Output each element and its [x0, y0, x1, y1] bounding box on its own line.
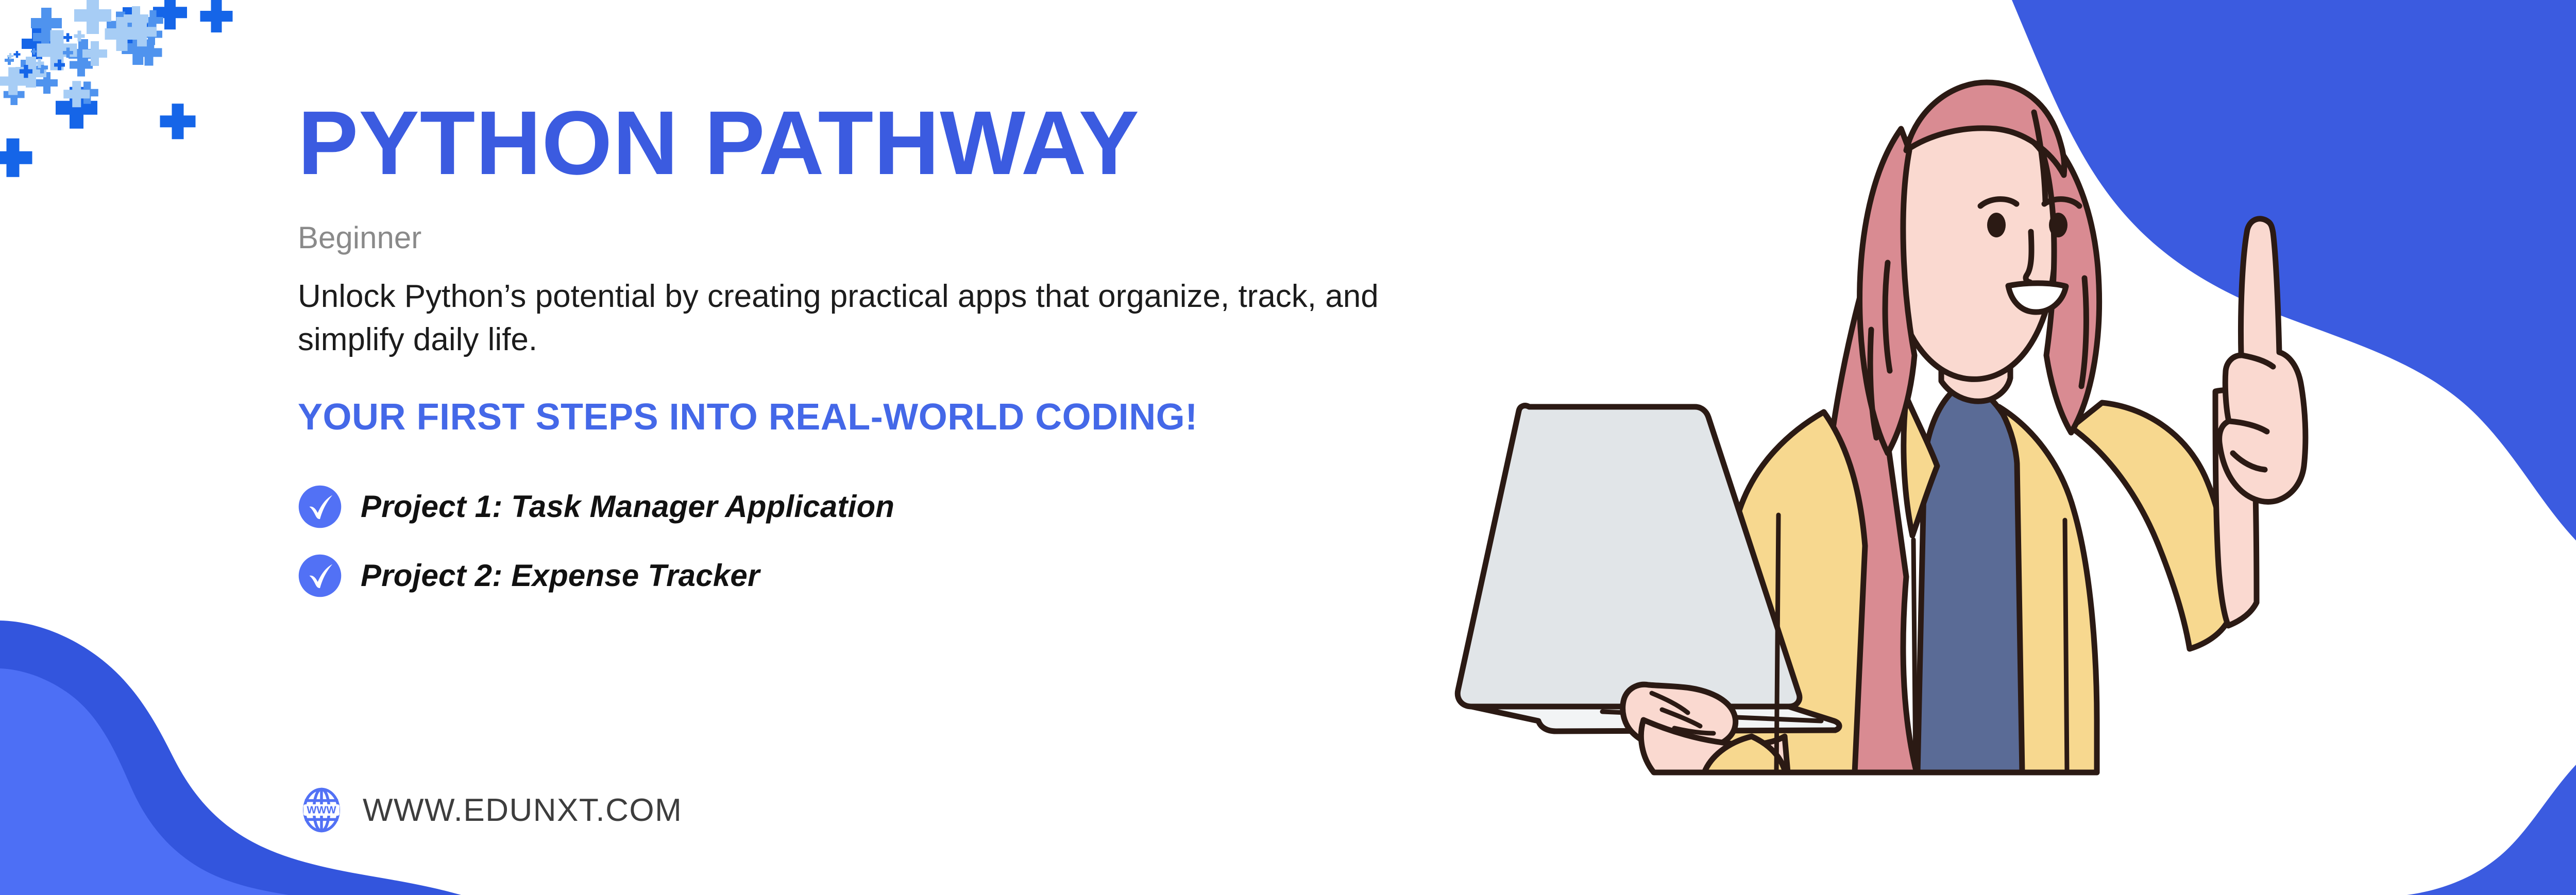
jacket-seam-left	[1776, 515, 1778, 772]
banner-text-block: PYTHON PATHWAY Beginner Unlock Python’s …	[298, 98, 1483, 623]
difficulty-level-label: Beginner	[298, 222, 1483, 253]
jacket-right-arm	[2071, 403, 2229, 649]
banner-description: Unlock Python’s potential by creating pr…	[298, 275, 1390, 362]
projects-list: Project 1: Task Manager Application Proj…	[298, 485, 1483, 598]
shirt-navy	[1918, 387, 2025, 772]
eye-left	[1987, 213, 2006, 237]
eye-right	[2049, 213, 2067, 237]
globe-icon-text: WWW	[307, 804, 336, 816]
laptop-lid	[1458, 406, 1800, 707]
website-footer[interactable]: WWW WWW.EDUNXT.COM	[298, 786, 682, 834]
list-item: Project 2: Expense Tracker	[298, 554, 1483, 598]
globe-www-icon: WWW	[298, 786, 345, 834]
course-promo-banner: PYTHON PATHWAY Beginner Unlock Python’s …	[0, 0, 2576, 895]
banner-subheadline: YOUR FIRST STEPS INTO REAL-WORLD CODING!	[298, 394, 1333, 440]
page-title: PYTHON PATHWAY	[298, 98, 1483, 188]
check-circle-icon	[298, 554, 342, 598]
list-item: Project 1: Task Manager Application	[298, 485, 1483, 529]
project-label: Project 1: Task Manager Application	[361, 489, 894, 524]
project-label: Project 2: Expense Tracker	[361, 558, 760, 593]
website-url[interactable]: WWW.EDUNXT.COM	[363, 792, 682, 829]
check-circle-icon	[298, 485, 342, 529]
jacket-seam-right	[2065, 520, 2067, 772]
jacket-placket	[1913, 540, 1916, 772]
